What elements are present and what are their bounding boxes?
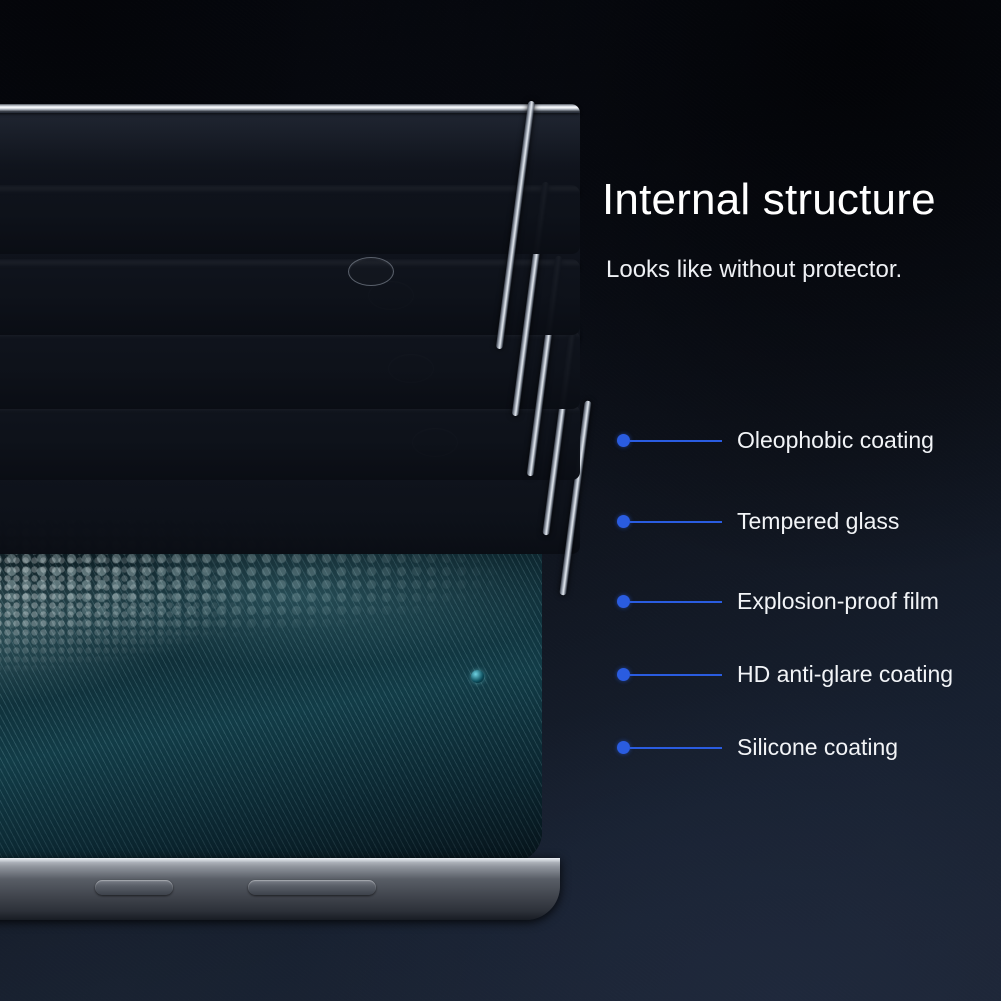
callout-leader-line <box>630 521 722 523</box>
callout-dot-icon <box>617 741 630 754</box>
oleophobic-coating-sheet <box>0 104 580 254</box>
callout-dot-icon <box>617 515 630 528</box>
callout-dot-icon <box>617 668 630 681</box>
callout-label: HD anti-glare coating <box>737 663 953 686</box>
callout-leader-line <box>630 601 722 603</box>
callout-explosion-proof-film[interactable]: Explosion-proof film <box>617 590 939 613</box>
callout-leader-line <box>630 674 722 676</box>
callout-dot-icon <box>617 595 630 608</box>
callout-leader-line <box>630 747 722 749</box>
product-infographic: Internal structure Looks like without pr… <box>0 0 1001 1001</box>
callout-oleophobic-coating[interactable]: Oleophobic coating <box>617 429 934 452</box>
callout-label: Tempered glass <box>737 510 899 533</box>
callout-dot-icon <box>617 434 630 447</box>
sheet-face <box>0 112 580 254</box>
page-subtitle: Looks like without protector. <box>606 256 902 284</box>
callout-label: Explosion-proof film <box>737 590 939 613</box>
callout-silicone-coating[interactable]: Silicone coating <box>617 736 898 759</box>
callout-label: Silicone coating <box>737 736 898 759</box>
callout-label: Oleophobic coating <box>737 429 934 452</box>
camera-cutout-icon <box>348 257 394 286</box>
callout-leader-line <box>630 440 722 442</box>
callout-hd-anti-glare-coating[interactable]: HD anti-glare coating <box>617 663 953 686</box>
layer-stack <box>0 0 1001 1001</box>
page-title: Internal structure <box>602 175 936 225</box>
callout-tempered-glass[interactable]: Tempered glass <box>617 510 899 533</box>
sheet-top-edge <box>0 104 580 113</box>
